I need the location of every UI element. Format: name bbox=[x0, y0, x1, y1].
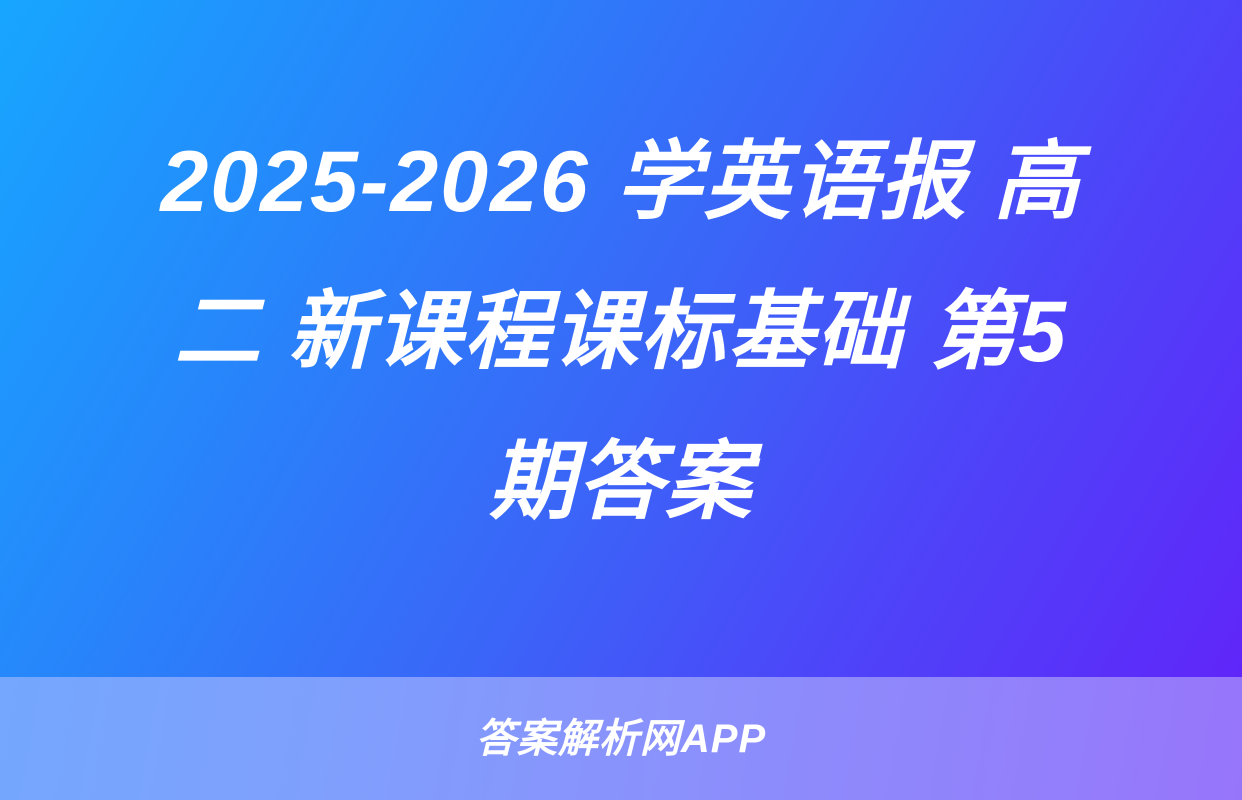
page-title: 2025-2026 学英语报 高 二 新课程课标基础 第5 期答案 bbox=[0, 0, 1242, 677]
title-line-1: 2025-2026 学英语报 高 bbox=[160, 107, 1081, 257]
title-line-2: 二 新课程课标基础 第5 bbox=[174, 257, 1068, 407]
answer-card: 2025-2026 学英语报 高 二 新课程课标基础 第5 期答案 答案解析网A… bbox=[0, 0, 1242, 800]
watermark-band: 答案解析网APP bbox=[0, 677, 1242, 800]
gradient-banner: 2025-2026 学英语报 高 二 新课程课标基础 第5 期答案 bbox=[0, 0, 1242, 677]
title-line-3: 期答案 bbox=[489, 407, 753, 557]
app-watermark-label: 答案解析网APP bbox=[476, 719, 766, 759]
